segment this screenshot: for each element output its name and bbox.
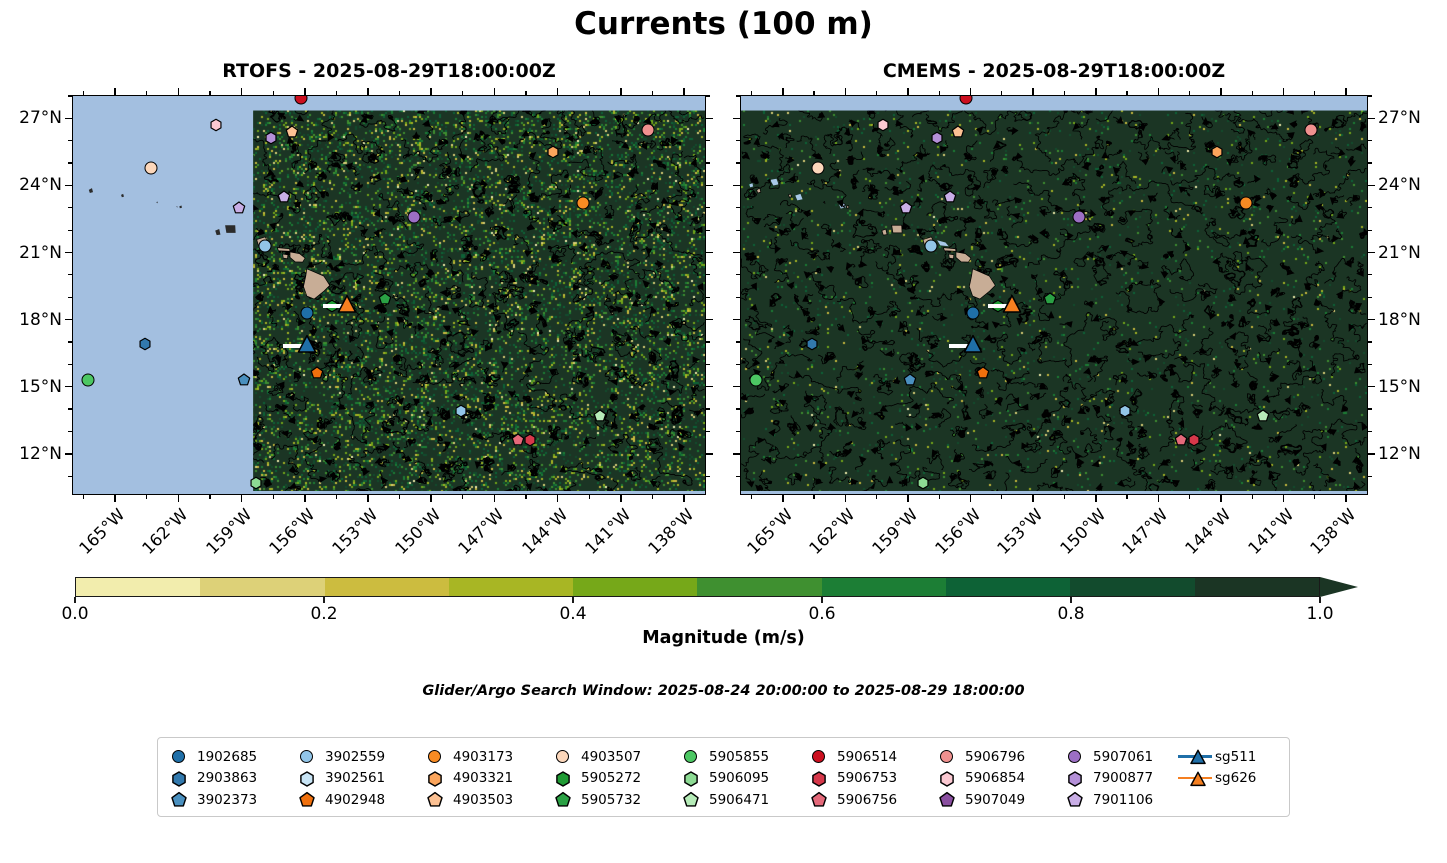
x-tick-minor-top — [462, 91, 463, 95]
streamline-arrow — [675, 215, 683, 222]
streamline-arrow — [751, 283, 757, 291]
legend-entry[interactable]: 5907049 — [936, 789, 1025, 811]
streamline — [575, 230, 614, 246]
streamline-arrow — [417, 308, 425, 315]
glider-marker-sg626[interactable] — [1003, 294, 1022, 313]
streamline-arrow — [1180, 162, 1186, 170]
legend-symbol-glider-line — [1178, 746, 1212, 767]
y-tick-minor — [706, 431, 710, 432]
circle-glyph — [812, 750, 825, 763]
x-tick-major — [241, 495, 243, 502]
argo-marker-5906095[interactable] — [250, 476, 263, 489]
streamline-arrow — [690, 216, 698, 223]
streamline — [1006, 456, 1048, 472]
streamline — [1314, 301, 1359, 376]
map-panel-rtofs[interactable] — [72, 95, 706, 495]
argo-marker-4903503[interactable] — [286, 125, 299, 138]
x-tick-minor-top — [399, 91, 400, 95]
streamline — [1205, 218, 1246, 247]
y-tick-label-right: 12°N — [1378, 444, 1447, 464]
triangle-glyph — [1191, 772, 1205, 785]
streamline-arrow — [507, 205, 513, 213]
search-window-text: Glider/Argo Search Window: 2025-08-24 20… — [0, 683, 1447, 699]
argo-marker-5905855[interactable] — [81, 373, 94, 386]
legend-entry[interactable]: 4903503 — [424, 789, 513, 811]
argo-marker-4903321[interactable] — [1210, 145, 1223, 158]
streamline — [601, 273, 618, 285]
legend-label: sg511 — [1215, 749, 1256, 765]
streamline-arrow — [828, 423, 836, 429]
hexagon-glyph — [301, 772, 313, 786]
reef-polygon — [795, 194, 802, 200]
argo-marker-7901106[interactable] — [943, 190, 956, 203]
legend-entry[interactable]: 5906095 — [680, 768, 769, 790]
x-tick-minor — [83, 495, 84, 499]
streamline — [605, 367, 651, 387]
streamline-arrow — [621, 142, 629, 149]
streamline — [349, 404, 375, 444]
streamline — [999, 236, 1038, 247]
legend-symbol-hexagon — [424, 768, 450, 789]
x-tick-major — [1220, 495, 1222, 502]
legend-entry[interactable]: 1902685 — [168, 746, 257, 768]
circle-glyph — [684, 750, 697, 763]
legend-symbol-pentagon — [296, 789, 322, 810]
colorbar-band-8 — [1070, 578, 1194, 596]
streamline-arrow — [285, 303, 292, 311]
legend-entry[interactable]: 5906753 — [808, 768, 897, 790]
colorbar-band-4 — [573, 578, 697, 596]
figure-title: Currents (100 m) — [0, 6, 1447, 42]
streamline — [920, 226, 936, 239]
streamline-arrow — [940, 315, 948, 322]
argo-marker-5905732[interactable] — [1043, 293, 1056, 306]
argo-marker-5906753[interactable] — [524, 434, 537, 447]
y-tick-major — [706, 453, 713, 455]
legend-entry[interactable]: 3902373 — [168, 789, 257, 811]
argo-marker-3902561[interactable] — [924, 239, 937, 252]
streamline — [630, 326, 657, 338]
streamline-arrow — [604, 212, 612, 219]
legend-symbol-hexagon — [1064, 768, 1090, 789]
streamline-arrow — [1336, 212, 1344, 218]
streamline — [327, 246, 387, 272]
x-tick-major — [782, 495, 784, 502]
argo-marker-3902559[interactable] — [1118, 405, 1131, 418]
reef-polygon — [937, 240, 948, 246]
streamline-arrow — [916, 423, 923, 431]
circle-glyph — [1068, 750, 1081, 763]
legend-entry-glider[interactable]: sg626 — [1178, 768, 1256, 790]
y-tick-minor — [68, 297, 72, 298]
argo-marker-5906756[interactable] — [511, 434, 524, 447]
streamline-arrow — [319, 476, 327, 483]
x-tick-minor-top — [1064, 91, 1065, 95]
streamline-arrow — [859, 261, 867, 268]
legend-entry[interactable]: 7901106 — [1064, 789, 1153, 811]
streamline-arrow — [1012, 127, 1019, 135]
streamline-arrow — [775, 246, 781, 254]
colorbar-tick — [1319, 597, 1320, 603]
y-tick-minor — [736, 207, 740, 208]
y-tick-label-right: 21°N — [1378, 243, 1447, 263]
streamline-arrow — [413, 169, 421, 175]
x-tick-major-top — [907, 88, 909, 95]
x-tick-major-top — [114, 88, 116, 95]
argo-marker-5906796[interactable] — [642, 123, 655, 136]
streamline-arrow — [771, 121, 779, 127]
x-tick-major — [907, 495, 909, 502]
colorbar-band-3 — [449, 578, 573, 596]
x-tick-major — [970, 495, 972, 502]
pentagon-glyph — [940, 793, 954, 806]
streamline-arrow — [418, 323, 425, 331]
argo-marker-4903507[interactable] — [144, 161, 157, 174]
streamline — [461, 236, 478, 264]
legend-entry-glider[interactable]: sg511 — [1178, 746, 1256, 768]
x-tick-minor — [1314, 495, 1315, 499]
legend-label: 5906095 — [709, 770, 769, 786]
y-tick-major — [65, 118, 72, 120]
circle-glyph — [940, 750, 953, 763]
hexagon-glyph — [429, 772, 441, 786]
streamline-arrow — [1275, 436, 1283, 443]
argo-marker-2903863[interactable] — [138, 338, 151, 351]
y-tick-major — [706, 185, 713, 187]
streamline — [786, 211, 804, 226]
legend-entry[interactable]: 5905732 — [552, 789, 641, 811]
x-tick-minor-top — [273, 91, 274, 95]
streamline-arrow — [795, 370, 802, 378]
glider-marker-sg626[interactable] — [337, 294, 356, 313]
streamline-arrow — [1012, 460, 1020, 467]
argo-marker-5905732[interactable] — [378, 293, 391, 306]
streamline-arrow — [859, 456, 867, 464]
domain-edge-strip-bottom — [73, 491, 705, 494]
argo-marker-3902373[interactable] — [237, 373, 250, 386]
land-polygon — [290, 252, 305, 262]
legend[interactable]: 1902685290386339023733902559390256149029… — [157, 737, 1290, 817]
streamline-arrow — [838, 324, 845, 332]
x-tick-major-top — [1345, 88, 1347, 95]
y-tick-minor — [1368, 95, 1372, 96]
y-tick-major — [1368, 386, 1375, 388]
legend-entry[interactable]: 4903507 — [552, 746, 641, 768]
streamline-arrow — [654, 330, 661, 338]
triangle-glyph — [964, 336, 981, 352]
streamline — [304, 140, 327, 172]
y-tick-minor — [736, 364, 740, 365]
triangle-glyph — [298, 336, 315, 352]
legend-symbol-circle — [680, 746, 706, 767]
y-tick-minor — [736, 297, 740, 298]
streamline — [1246, 229, 1259, 247]
streamline-arrow — [820, 462, 826, 470]
legend-symbol-circle — [296, 746, 322, 767]
argo-marker-4903507[interactable] — [812, 161, 825, 174]
streamline — [896, 145, 929, 173]
argo-marker-1902685[interactable] — [966, 306, 979, 319]
legend-label: 7901106 — [1093, 792, 1153, 808]
legend-entry[interactable]: 5907061 — [1064, 746, 1153, 768]
x-tick-major-top — [683, 88, 685, 95]
argo-marker-5906854[interactable] — [876, 119, 889, 132]
figure-canvas: Currents (100 m) RTOFS - 2025-08-29T18:0… — [0, 0, 1447, 863]
legend-entry[interactable]: 5906854 — [936, 768, 1025, 790]
x-tick-major-top — [1032, 88, 1034, 95]
streamline-arrow — [1083, 368, 1091, 375]
argo-marker-3902559[interactable] — [454, 405, 467, 418]
pentagon-glyph — [312, 367, 323, 378]
panel-title-cmems: CMEMS - 2025-08-29T18:00:00Z — [740, 60, 1368, 82]
streamline-arrow — [373, 173, 381, 180]
legend-label: 5906514 — [837, 749, 897, 765]
streamline — [413, 374, 476, 388]
streamline-arrow — [455, 216, 461, 224]
streamline — [1262, 217, 1288, 246]
y-tick-minor — [706, 140, 710, 141]
streamline — [995, 254, 1018, 268]
streamline-arrow — [1354, 145, 1362, 152]
triangle-glyph — [1004, 296, 1021, 312]
streamline-arrow — [1293, 461, 1301, 468]
streamline-arrow — [885, 350, 893, 357]
streamline — [1038, 313, 1119, 368]
argo-marker-7900877[interactable] — [265, 132, 278, 145]
streamline-arrow — [1296, 365, 1303, 373]
pentagon-glyph — [904, 374, 915, 385]
argo-marker-5906095[interactable] — [916, 476, 929, 489]
argo-marker-4903321[interactable] — [547, 145, 560, 158]
no-data-mask — [73, 96, 253, 494]
streamline-arrow — [1128, 440, 1134, 448]
legend-column: 190268529038633902373 — [168, 746, 257, 811]
hexagon-glyph — [548, 146, 558, 157]
streamline-arrow — [806, 425, 814, 432]
colorbar[interactable]: 0.00.20.40.60.81.0 — [75, 577, 1392, 597]
streamline — [257, 337, 293, 372]
streamline — [458, 139, 466, 158]
legend-label: 5905272 — [581, 770, 641, 786]
x-tick-minor — [751, 495, 752, 499]
argo-marker-2903863[interactable] — [805, 338, 818, 351]
y-tick-minor — [706, 230, 710, 231]
argo-marker-5907061[interactable] — [408, 210, 421, 223]
argo-marker-7901106[interactable] — [277, 190, 290, 203]
streamline-arrow — [1333, 457, 1340, 465]
hexagon-glyph — [685, 772, 697, 786]
streamline-arrow — [1009, 430, 1016, 438]
colorbar-tick — [821, 597, 822, 603]
reef-polygon — [770, 179, 778, 186]
argo-marker-3902373[interactable] — [904, 373, 917, 386]
y-tick-major — [65, 185, 72, 187]
argo-marker-5906854[interactable] — [210, 119, 223, 132]
streamline — [744, 134, 790, 199]
legend-entry[interactable]: 5906756 — [808, 789, 897, 811]
streamline-arrow — [978, 261, 986, 268]
streamline — [361, 446, 386, 458]
streamline-arrow — [1117, 480, 1125, 488]
argo-marker-4903503[interactable] — [952, 125, 965, 138]
colorbar-bands — [75, 577, 1320, 597]
legend-entry[interactable]: 4902948 — [296, 789, 385, 811]
streamline-arrow — [1296, 214, 1303, 222]
legend-entry[interactable]: 3902559 — [296, 746, 385, 768]
legend-entry[interactable]: 5905272 — [552, 768, 641, 790]
streamline-arrow — [282, 404, 288, 412]
legend-symbol-pentagon — [168, 789, 194, 810]
streamline — [1013, 182, 1058, 209]
streamline-arrow — [635, 203, 643, 210]
y-tick-minor — [736, 476, 740, 477]
streamline-arrow — [627, 170, 634, 178]
streamline-arrow — [911, 402, 919, 409]
argo-marker-4903173[interactable] — [1239, 197, 1252, 210]
streamline-arrow — [330, 324, 338, 331]
argo-marker-5907049[interactable] — [233, 201, 246, 214]
legend-entry[interactable]: 2903863 — [168, 768, 257, 790]
y-tick-minor — [736, 431, 740, 432]
streamline-arrow — [1205, 483, 1213, 490]
legend-label: 3902561 — [325, 770, 385, 786]
colorbar-band-5 — [697, 578, 821, 596]
hexagon-glyph — [941, 772, 953, 786]
x-tick-minor-top — [336, 91, 337, 95]
streamline-arrow — [1262, 395, 1270, 402]
pentagon-glyph — [812, 793, 826, 806]
streamline-arrow — [915, 196, 923, 202]
legend-entry[interactable]: 4903321 — [424, 768, 513, 790]
map-panel-cmems[interactable] — [740, 95, 1368, 495]
argo-marker-4903173[interactable] — [576, 197, 589, 210]
y-tick-minor — [1368, 476, 1372, 477]
legend-entry[interactable]: 4903173 — [424, 746, 513, 768]
legend-symbol-triangle — [1187, 746, 1205, 767]
y-tick-major — [733, 319, 740, 321]
y-tick-minor — [706, 207, 710, 208]
streamline-arrow — [573, 355, 581, 362]
y-tick-major — [1368, 453, 1375, 455]
pentagon-glyph — [556, 793, 570, 806]
glider-marker-sg511[interactable] — [963, 335, 982, 354]
argo-marker-5906471[interactable] — [1256, 409, 1269, 422]
colorbar-extend-arrow — [1320, 577, 1358, 597]
colorbar-band-6 — [822, 578, 946, 596]
legend-entry[interactable]: 5906514 — [808, 746, 897, 768]
legend-entry[interactable]: 3902561 — [296, 768, 385, 790]
streamline-arrow — [571, 230, 577, 238]
hexagon-glyph — [878, 119, 888, 130]
y-tick-minor — [1368, 341, 1372, 342]
streamline-arrow — [650, 306, 657, 314]
x-tick-minor — [399, 495, 400, 499]
x-tick-major — [620, 495, 622, 502]
x-tick-minor — [336, 495, 337, 499]
argo-marker-5906756[interactable] — [1175, 434, 1188, 447]
argo-marker-7900877[interactable] — [931, 132, 944, 145]
legend-symbol-circle — [936, 746, 962, 767]
streamline — [804, 391, 826, 415]
streamline-arrow — [1101, 245, 1109, 252]
streamline — [1162, 259, 1194, 281]
streamline — [1324, 257, 1354, 283]
argo-marker-5906753[interactable] — [1187, 434, 1200, 447]
legend-label: 4902948 — [325, 792, 385, 808]
argo-marker-1902685[interactable] — [300, 306, 313, 319]
argo-marker-5906471[interactable] — [593, 409, 606, 422]
y-tick-minor — [68, 408, 72, 409]
pentagon-glyph — [1044, 293, 1055, 304]
x-tick-minor-top — [1126, 91, 1127, 95]
streamline-arrow — [550, 208, 558, 215]
streamline-arrow — [1239, 463, 1246, 471]
hexagon-glyph — [173, 772, 185, 786]
hexagon-glyph — [266, 133, 276, 144]
streamline — [1138, 371, 1157, 378]
streamline — [1012, 136, 1104, 175]
legend-entry[interactable]: 5906471 — [680, 789, 769, 811]
streamline — [631, 185, 650, 209]
y-tick-minor — [68, 364, 72, 365]
y-tick-minor — [1368, 431, 1372, 432]
streamline — [416, 191, 433, 210]
legend-column: 590679659068545907049 — [936, 746, 1025, 811]
argo-marker-5907061[interactable] — [1073, 210, 1086, 223]
streamline — [873, 374, 900, 395]
streamline-arrow — [1090, 209, 1096, 217]
colorbar-title: Magnitude (m/s) — [0, 628, 1447, 648]
streamline — [629, 220, 653, 249]
y-tick-major — [65, 252, 72, 254]
argo-marker-3902561[interactable] — [258, 239, 271, 252]
argo-marker-5905855[interactable] — [749, 373, 762, 386]
colorbar-band-7 — [946, 578, 1070, 596]
legend-entry[interactable]: 5906796 — [936, 746, 1025, 768]
streamline-arrow — [1316, 247, 1324, 254]
y-tick-minor — [68, 140, 72, 141]
streamline-arrow — [1307, 193, 1314, 201]
streamline — [834, 407, 866, 430]
streamline — [770, 400, 788, 413]
colorbar-band-0 — [76, 578, 200, 596]
colorbar-tick-label: 1.0 — [1306, 604, 1333, 624]
argo-marker-4902948[interactable] — [311, 367, 324, 380]
streamline-arrow — [1196, 448, 1204, 455]
legend-label: 4903321 — [453, 770, 513, 786]
hexagon-glyph — [251, 477, 261, 488]
legend-label: 4903507 — [581, 749, 641, 765]
streamline — [286, 393, 308, 412]
land-polygon — [789, 194, 792, 197]
argo-marker-4902948[interactable] — [977, 367, 990, 380]
legend-entry[interactable]: 7900877 — [1064, 768, 1153, 790]
y-tick-minor — [706, 274, 710, 275]
streamline-arrow — [869, 310, 877, 317]
circle-glyph — [556, 750, 569, 763]
x-tick-minor — [652, 495, 653, 499]
circle-glyph — [300, 750, 313, 763]
streamline-arrow — [501, 226, 508, 234]
colorbar-tick — [1070, 597, 1071, 603]
argo-marker-5906796[interactable] — [1304, 123, 1317, 136]
streamline — [1007, 206, 1023, 228]
y-tick-minor — [68, 230, 72, 231]
legend-entry[interactable]: 5905855 — [680, 746, 769, 768]
x-tick-major-top — [367, 88, 369, 95]
glider-marker-sg511[interactable] — [297, 335, 316, 354]
argo-marker-5907049[interactable] — [899, 201, 912, 214]
